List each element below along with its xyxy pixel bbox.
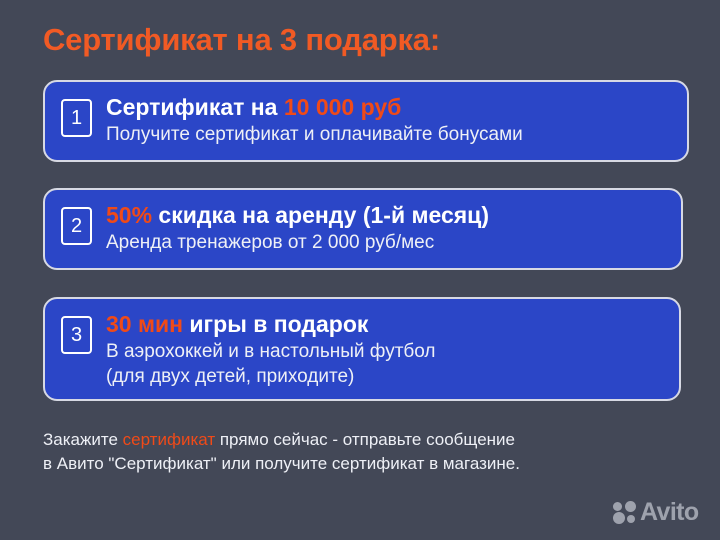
benefit-card-text-1: Сертификат на 10 000 руб Получите сертиф…: [106, 91, 523, 146]
footer-call-to-action: Закажите сертификат прямо сейчас - отпра…: [43, 428, 693, 476]
benefit-card-3: 3 30 мин игры в подарок В аэрохоккей и в…: [43, 297, 681, 401]
benefit-headline-1-prefix: Сертификат на: [106, 94, 284, 120]
avito-dots-icon: [613, 501, 636, 524]
benefit-subtext-1: Получите сертификат и оплачивайте бонуса…: [106, 123, 523, 146]
footer-line1-prefix: Закажите: [43, 430, 123, 449]
benefit-headline-2-highlight: 50%: [106, 202, 152, 228]
benefit-subtext-3: В аэрохоккей и в настольный футбол: [106, 340, 436, 363]
footer-line1-suffix: прямо сейчас - отправьте сообщение: [215, 430, 515, 449]
footer-line1-highlight: сертификат: [123, 430, 215, 449]
benefit-card-text-3: 30 мин игры в подарок В аэрохоккей и в н…: [106, 308, 436, 388]
page-title: Сертификат на 3 подарка:: [43, 22, 440, 58]
benefit-headline-3-suffix: игры в подарок: [183, 311, 368, 337]
benefit-number-badge-2: 2: [61, 207, 92, 245]
benefit-number-badge-3: 3: [61, 316, 92, 354]
benefit-headline-3-highlight: 30 мин: [106, 311, 183, 337]
benefit-subtext-3-line2: (для двух детей, приходите): [106, 365, 436, 388]
footer-line2: в Авито "Сертификат" или получите сертиф…: [43, 454, 520, 473]
avito-logo: Avito: [613, 500, 699, 525]
benefit-headline-3: 30 мин игры в подарок: [106, 311, 436, 338]
benefit-headline-2: 50% скидка на аренду (1-й месяц): [106, 202, 489, 229]
promo-banner: Сертификат на 3 подарка: 1 Сертификат на…: [0, 0, 720, 540]
benefit-headline-1: Сертификат на 10 000 руб: [106, 94, 523, 121]
avito-wordmark: Avito: [640, 500, 699, 525]
benefit-subtext-2: Аренда тренажеров от 2 000 руб/мес: [106, 231, 489, 254]
benefit-card-text-2: 50% скидка на аренду (1-й месяц) Аренда …: [106, 199, 489, 254]
benefit-headline-2-suffix: скидка на аренду (1-й месяц): [152, 202, 489, 228]
benefit-card-2: 2 50% скидка на аренду (1-й месяц) Аренд…: [43, 188, 683, 270]
benefit-card-1: 1 Сертификат на 10 000 руб Получите серт…: [43, 80, 689, 162]
benefit-number-badge-1: 1: [61, 99, 92, 137]
benefit-headline-1-highlight: 10 000 руб: [284, 94, 401, 120]
